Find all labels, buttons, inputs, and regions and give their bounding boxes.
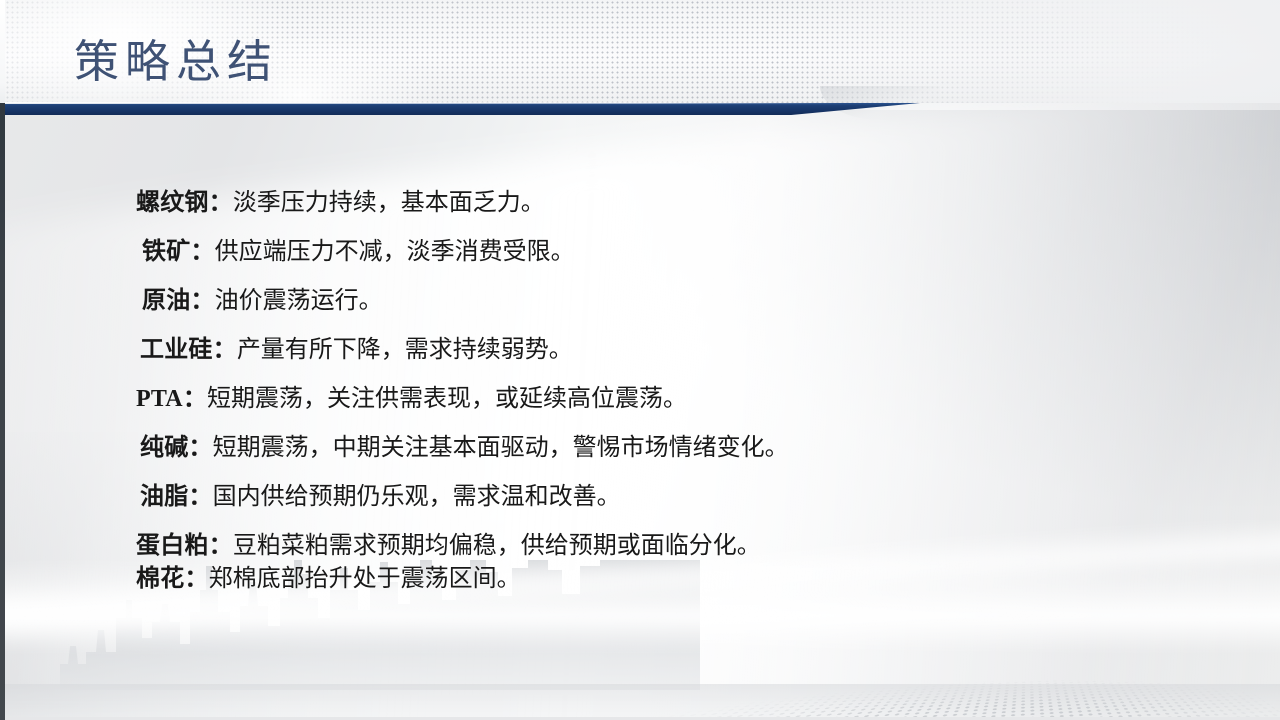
commodity-label: 棉花：: [136, 566, 209, 592]
commodity-label: 螺纹钢：: [136, 190, 233, 216]
commodity-outlook-text: 郑棉底部抬升处于震荡区间。: [209, 566, 521, 592]
summary-line: 纯碱：短期震荡，中期关注基本面驱动，警惕市场情绪变化。: [0, 433, 1280, 463]
summary-line: 铁矿：供应端压力不减，淡季消费受限。: [0, 237, 1280, 267]
summary-line: 原油：油价震荡运行。: [0, 286, 1280, 316]
bottom-band: [0, 684, 1280, 720]
summary-line: 油脂：国内供给预期仍乐观，需求温和改善。: [0, 482, 1280, 512]
commodity-outlook-text: 豆粕菜粕需求预期均偏稳，供给预期或面临分化。: [233, 533, 761, 559]
commodity-label: 油脂：: [140, 484, 213, 510]
commodity-label: 原油：: [142, 288, 215, 314]
divider-bar: [0, 103, 920, 115]
summary-list: 螺纹钢：淡季压力持续，基本面乏力。铁矿：供应端压力不减，淡季消费受限。原油：油价…: [0, 188, 1280, 613]
slide-canvas: 策略总结 螺纹钢：淡季压力持续，基本面乏力。铁矿：供应端压力不减，淡季消费受限。…: [0, 0, 1280, 720]
summary-line: 棉花：郑棉底部抬升处于震荡区间。: [0, 564, 1280, 594]
summary-line: 蛋白粕：豆粕菜粕需求预期均偏稳，供给预期或面临分化。: [0, 531, 1280, 561]
summary-line: 工业硅：产量有所下降，需求持续弱势。: [0, 335, 1280, 365]
commodity-outlook-text: 产量有所下降，需求持续弱势。: [237, 337, 573, 363]
summary-line: 螺纹钢：淡季压力持续，基本面乏力。: [0, 188, 1280, 218]
left-edge-stripe: [0, 0, 5, 720]
commodity-label: 铁矿：: [142, 239, 215, 265]
commodity-outlook-text: 国内供给预期仍乐观，需求温和改善。: [213, 484, 621, 510]
commodity-label: 纯碱：: [140, 435, 213, 461]
commodity-outlook-text: 短期震荡，中期关注基本面驱动，警惕市场情绪变化。: [213, 435, 789, 461]
commodity-outlook-text: 供应端压力不减，淡季消费受限。: [215, 239, 575, 265]
left-edge-stripe-header: [0, 0, 5, 103]
commodity-label: 工业硅：: [140, 337, 237, 363]
summary-line: PTA：短期震荡，关注供需表现，或延续高位震荡。: [0, 384, 1280, 414]
commodity-outlook-text: 淡季压力持续，基本面乏力。: [233, 190, 545, 216]
commodity-label: 蛋白粕：: [136, 533, 233, 559]
commodity-outlook-text: 油价震荡运行。: [215, 288, 383, 314]
title-divider: [0, 100, 920, 118]
divider-highlight: [0, 102, 920, 104]
commodity-label: PTA：: [136, 386, 207, 412]
page-title: 策略总结: [74, 33, 278, 91]
commodity-outlook-text: 短期震荡，关注供需表现，或延续高位震荡。: [207, 386, 687, 412]
